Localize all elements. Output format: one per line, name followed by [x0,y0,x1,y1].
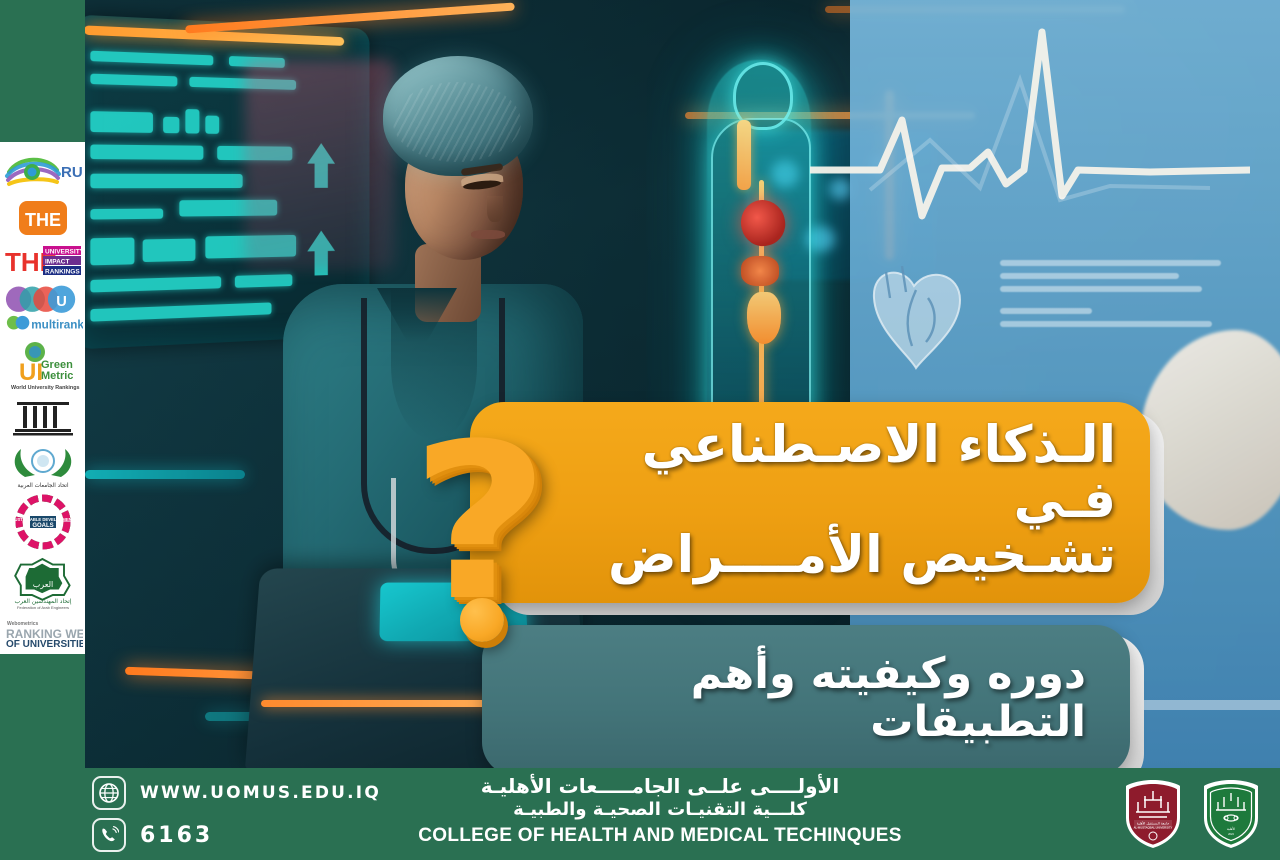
svg-text:UNIVERSITY: UNIVERSITY [45,249,83,256]
title-banner-primary: الـذكاء الاصـطناعي فـي تشـخيص الأمــــرا… [470,402,1150,603]
svg-text:RANKINGS: RANKINGS [45,269,80,276]
globe-www-icon [92,776,126,810]
svg-text:OF UNIVERSITIES: OF UNIVERSITIES [6,639,83,648]
question-mark-glyph: ? [410,428,556,618]
website-row[interactable]: WWW.UOMUS.EDU.IQ [92,776,381,810]
teal-light-strip [85,470,245,479]
svg-text:Metric: Metric [41,370,73,382]
poster-root: الـذكاء الاصـطناعي فـي تشـخيص الأمــــرا… [0,0,1280,853]
question-mark-icon: ? [418,428,548,643]
footer-institution: الأولــــى علــى الجامـــــعات الأهليـة … [380,774,940,847]
svg-text:الأهلية: الأهلية [1227,826,1235,831]
svg-text:SUSTAINABLE DEVELOPMENT: SUSTAINABLE DEVELOPMENT [14,517,72,522]
rankings-sidebar: RUR THE THE UNIVERSITY IMPACT RANKINGS [0,142,85,654]
poster-subtitle: دوره وكيفيته وأهم التطبيقات [552,651,1086,746]
footer-contacts: WWW.UOMUS.EDU.IQ 6163 [92,776,381,860]
svg-text:Federation of Arab Engineers: Federation of Arab Engineers [16,605,68,610]
title-banner-yellow: الـذكاء الاصـطناعي فـي تشـخيص الأمــــرا… [470,402,1150,603]
poster-title: الـذكاء الاصـطناعي فـي تشـخيص الأمــــرا… [590,418,1116,583]
title-block: الـذكاء الاصـطناعي فـي تشـخيص الأمــــرا… [470,402,1150,776]
website-url: WWW.UOMUS.EDU.IQ [140,783,381,803]
u-multirank-logo: U multirank [3,283,83,335]
footer-college-english: COLLEGE OF HEALTH AND MEDICAL TECHINQUES [380,825,940,847]
the-impact-rankings-logo: THE UNIVERSITY IMPACT RANKINGS [3,244,83,278]
svg-text:UI: UI [19,359,43,386]
svg-text:العرب: العرب [32,580,52,589]
subtitle-banner-teal: دوره وكيفيته وأهم التطبيقات [482,625,1130,776]
svg-text:RUR: RUR [61,164,83,181]
footer-bar: WWW.UOMUS.EDU.IQ 6163 الأولــــى علــى ا… [0,768,1280,853]
footer-college-arabic: كلـــية التقنيـات الصحيـة والطبيـة [380,799,940,822]
footer-tagline-arabic: الأولــــى علــى الجامـــــعات الأهليـة [380,774,940,799]
university-crest-green: الأهلية 2024 [1200,778,1262,850]
svg-text:2024: 2024 [1228,832,1234,836]
arab-engineers-federation-logo: العرب إتحاد المهندسين العرب Federation o… [3,555,83,611]
phone-row[interactable]: 6163 [92,818,381,852]
rur-rankings-logo: RUR [3,148,83,192]
heart-anatomy-icon [856,250,976,380]
ui-greenmetric-logo: UI Green Metric World University Ranking… [3,340,83,392]
svg-text:U: U [56,294,67,310]
footer-crests: جامعة المستقبل الأهلية AL-MUSTAQBAL UNIV… [1122,778,1262,850]
svg-text:THE: THE [25,210,61,230]
svg-text:World University Rankings: World University Rankings [11,385,80,391]
the-rankings-logo: THE [3,197,83,239]
sdg-wheel-logo: SUSTAINABLE DEVELOPMENT GOALS [3,494,83,550]
svg-text:اتحاد الجامعات العربية: اتحاد الجامعات العربية [17,483,68,489]
university-crest-red: جامعة المستقبل الأهلية AL-MUSTAQBAL UNIV… [1122,778,1184,850]
question-mark-dot [460,598,504,642]
phone-icon [92,818,126,852]
arab-universities-union-logo: اتحاد الجامعات العربية [3,443,83,489]
svg-text:AL-MUSTAQBAL UNIVERSITY: AL-MUSTAQBAL UNIVERSITY [1134,826,1173,830]
svg-text:multirank: multirank [31,319,83,332]
svg-text:GOALS: GOALS [32,523,53,529]
overlay-code-lines [1000,260,1230,334]
svg-text:إتحاد المهندسين العرب: إتحاد المهندسين العرب [14,598,71,605]
unesco-pillars-logo [3,398,83,438]
webometrics-ranking-web-logo: Webometrics RANKING WEB OF UNIVERSITIES [3,616,83,648]
svg-text:IMPACT: IMPACT [45,259,69,266]
title-banner-secondary: دوره وكيفيته وأهم التطبيقات [482,625,1130,776]
phone-number: 6163 [140,823,213,848]
